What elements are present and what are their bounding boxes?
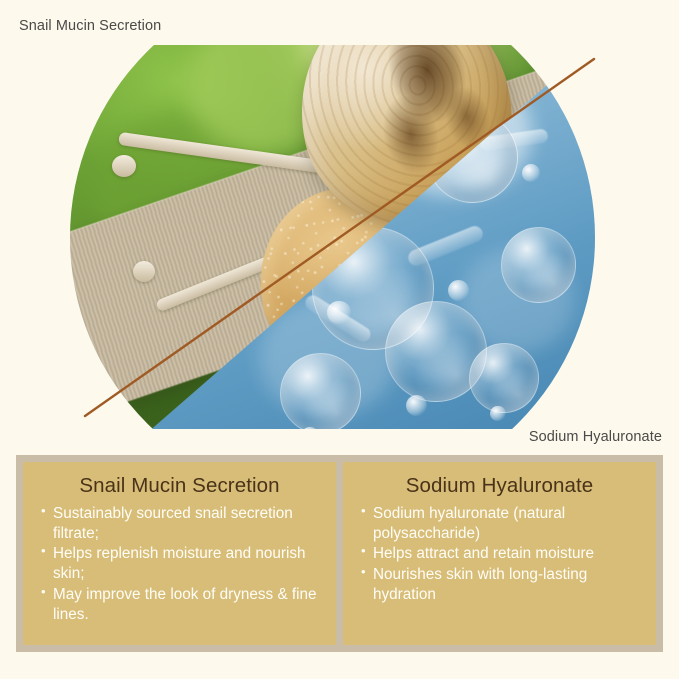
gel-droplet-3 [327,301,351,325]
gel-droplet-7 [490,406,506,422]
panel-title-sodium-hyaluronate: Sodium Hyaluronate [361,474,638,498]
hero-circle-inner [70,45,595,429]
caption-top-left: Snail Mucin Secretion [19,18,161,34]
page-root: Snail Mucin Secretion Sodium Hyaluronate [0,0,679,679]
list-item: Helps attract and retain moisture [361,544,638,564]
panel-bullets-snail-mucin: Sustainably sourced snail secretion filt… [41,504,318,624]
list-item: Sodium hyaluronate (natural polysacchari… [361,504,638,543]
gel-droplet-2 [448,280,469,301]
gel-bubble-7 [469,343,539,413]
caption-bottom-right: Sodium Hyaluronate [529,429,662,445]
snail-tentacle-lower-tip [133,261,155,282]
benefits-panel-sodium-hyaluronate: Sodium Hyaluronate Sodium hyaluronate (n… [343,462,656,645]
hero-circle [70,45,595,429]
benefits-panel-group: Snail Mucin Secretion Sustainably source… [16,455,663,652]
gel-droplet-4 [522,164,540,182]
gel-bubble-4 [501,227,577,303]
list-item: Nourishes skin with long-lasting hydrati… [361,565,638,604]
gel-bubble-5 [280,353,361,429]
panel-bullets-sodium-hyaluronate: Sodium hyaluronate (natural polysacchari… [361,504,638,605]
panel-title-snail-mucin: Snail Mucin Secretion [41,474,318,498]
list-item: May improve the look of dryness & fine l… [41,585,318,624]
benefits-panel-snail-mucin: Snail Mucin Secretion Sustainably source… [23,462,336,645]
list-item: Helps replenish moisture and nourish ski… [41,544,318,583]
gel-droplet-5 [406,395,427,416]
list-item: Sustainably sourced snail secretion filt… [41,504,318,543]
snail-tentacle-upper-tip [112,155,136,177]
